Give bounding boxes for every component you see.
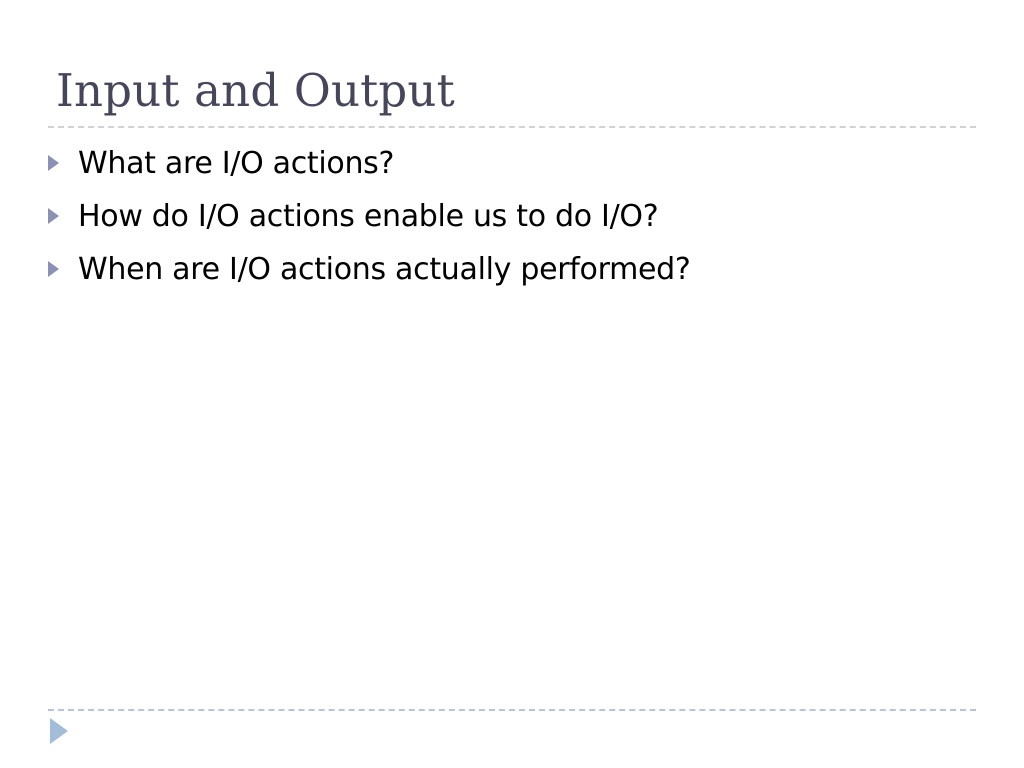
triangle-bullet-icon: [48, 248, 78, 277]
triangle-bullet-icon: [48, 195, 78, 224]
list-item-label: How do I/O actions enable us to do I/O?: [78, 195, 948, 239]
triangle-bullet-icon: [48, 142, 78, 171]
list-item-label: What are I/O actions?: [78, 142, 948, 186]
list-item[interactable]: How do I/O actions enable us to do I/O?: [48, 195, 948, 248]
title-divider: [48, 126, 976, 128]
bullet-list: What are I/O actions? How do I/O actions…: [48, 142, 948, 301]
list-item[interactable]: What are I/O actions?: [48, 142, 948, 195]
footer-divider: [48, 709, 976, 711]
list-item[interactable]: When are I/O actions actually performed?: [48, 248, 948, 301]
slide-title-block: Input and Output: [48, 62, 976, 128]
triangle-play-icon: [50, 718, 68, 744]
presentation-slide: Input and Output What are I/O actions? H…: [0, 0, 1024, 768]
page-title: Input and Output: [56, 62, 455, 120]
list-item-label: When are I/O actions actually performed?: [78, 248, 948, 292]
